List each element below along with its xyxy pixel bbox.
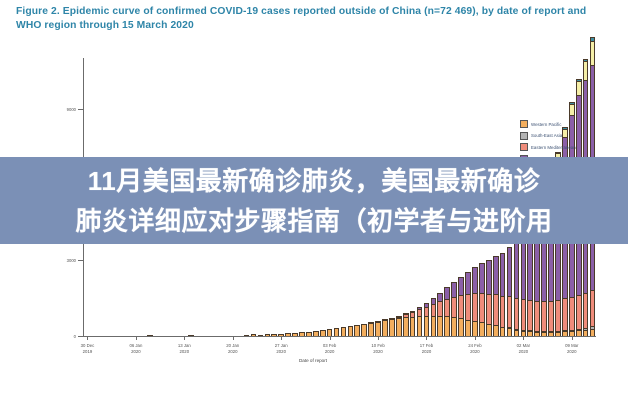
bar bbox=[417, 307, 423, 336]
bar bbox=[313, 331, 319, 336]
x-tick-label: 06 Jan 2020 bbox=[113, 343, 159, 354]
bar bbox=[147, 335, 153, 336]
bar-segment bbox=[437, 316, 443, 336]
bar-segment bbox=[507, 296, 513, 327]
bar bbox=[493, 256, 499, 336]
bar-segment bbox=[541, 332, 547, 336]
bar-segment bbox=[320, 330, 326, 336]
bar bbox=[521, 232, 527, 336]
x-tick-label: 10 Feb 2020 bbox=[355, 343, 401, 354]
bar bbox=[465, 272, 471, 336]
x-tick-label: 09 Mar 2020 bbox=[549, 343, 595, 354]
x-tick-label: 24 Feb 2020 bbox=[452, 343, 498, 354]
bar-segment bbox=[576, 330, 582, 336]
figure-caption: Figure 2. Epidemic curve of confirmed CO… bbox=[16, 5, 614, 33]
bar-segment bbox=[334, 328, 340, 336]
bar-segment bbox=[451, 282, 457, 297]
bar-segment bbox=[341, 327, 347, 336]
bar-segment bbox=[465, 320, 471, 336]
bar-segment bbox=[299, 332, 305, 336]
bar-segment bbox=[590, 41, 596, 65]
bar-segment bbox=[479, 263, 485, 293]
bar-segment bbox=[361, 324, 367, 336]
bar-segment bbox=[389, 319, 395, 336]
bar bbox=[354, 325, 360, 336]
bar-segment bbox=[493, 325, 499, 336]
bar-segment bbox=[368, 323, 374, 336]
bar bbox=[251, 334, 257, 336]
bar-segment bbox=[313, 331, 319, 336]
bar-segment bbox=[147, 335, 153, 336]
bar bbox=[271, 334, 277, 336]
bar bbox=[320, 330, 326, 336]
bar-segment bbox=[265, 334, 271, 336]
bar-segment bbox=[479, 322, 485, 336]
bar-segment bbox=[424, 307, 430, 316]
bar-segment bbox=[444, 299, 450, 317]
bar bbox=[472, 267, 478, 336]
bar bbox=[458, 277, 464, 336]
bar-segment bbox=[472, 321, 478, 336]
bar-segment bbox=[500, 327, 506, 336]
bar-segment bbox=[348, 326, 354, 336]
legend-label: Eastern Mediterranean bbox=[531, 145, 576, 150]
legend-item[interactable]: South-East Asia bbox=[520, 132, 600, 140]
bar bbox=[514, 241, 520, 336]
bar-segment bbox=[583, 293, 589, 328]
bar-segment bbox=[285, 333, 291, 336]
bar bbox=[486, 260, 492, 336]
bar-segment bbox=[583, 330, 589, 336]
legend-swatch bbox=[520, 132, 528, 140]
y-tick bbox=[78, 260, 83, 261]
bar bbox=[285, 333, 291, 336]
bar bbox=[431, 298, 437, 336]
x-axis-line bbox=[83, 336, 596, 337]
bar-segment bbox=[514, 298, 520, 329]
bar-segment bbox=[569, 331, 575, 336]
bar-segment bbox=[534, 332, 540, 336]
bar-segment bbox=[244, 335, 250, 336]
bar-segment bbox=[493, 294, 499, 325]
x-tick-label: 17 Feb 2020 bbox=[403, 343, 449, 354]
y-tick-label: 3000 bbox=[30, 258, 76, 263]
bar-segment bbox=[493, 256, 499, 294]
bar bbox=[292, 333, 298, 336]
bar-segment bbox=[548, 301, 554, 332]
bar-segment bbox=[258, 335, 264, 336]
bar-segment bbox=[590, 290, 596, 327]
bar-segment bbox=[486, 294, 492, 324]
bar bbox=[244, 335, 250, 336]
bar bbox=[479, 263, 485, 336]
bar-segment bbox=[507, 247, 513, 296]
overlay-line-2: 肺炎详细应对步骤指南（初学者与进阶用 bbox=[75, 201, 552, 241]
bar-segment bbox=[396, 318, 402, 336]
bar-segment bbox=[437, 293, 443, 301]
x-tick bbox=[475, 336, 476, 340]
bar-segment bbox=[458, 295, 464, 319]
bar bbox=[306, 332, 312, 336]
bar-segment bbox=[486, 324, 492, 336]
bar bbox=[341, 327, 347, 336]
figure-root: Figure 2. Epidemic curve of confirmed CO… bbox=[0, 0, 628, 400]
bar-segment bbox=[521, 299, 527, 330]
bar-segment bbox=[251, 334, 257, 336]
bar-segment bbox=[534, 301, 540, 331]
x-tick bbox=[426, 336, 427, 340]
x-tick bbox=[233, 336, 234, 340]
bar-segment bbox=[424, 316, 430, 336]
x-tick bbox=[572, 336, 573, 340]
legend-label: Western Pacific bbox=[531, 122, 561, 127]
legend-swatch bbox=[520, 120, 528, 128]
bar-segment bbox=[555, 332, 561, 336]
legend-swatch bbox=[520, 143, 528, 151]
bar-segment bbox=[444, 287, 450, 298]
bar-segment bbox=[451, 297, 457, 318]
bar bbox=[424, 303, 430, 336]
bar bbox=[451, 282, 457, 336]
x-tick-label: 13 Jan 2020 bbox=[161, 343, 207, 354]
bar-segment bbox=[465, 294, 471, 320]
bar bbox=[403, 313, 409, 336]
x-tick bbox=[87, 336, 88, 340]
bar-segment bbox=[410, 317, 416, 336]
overlay-line-1: 11月美国最新确诊肺炎，美国最新确诊 bbox=[88, 161, 541, 201]
x-tick-label: 30 Dec 2019 bbox=[64, 343, 110, 354]
bar-segment bbox=[548, 332, 554, 336]
x-axis-title: Date of report bbox=[30, 358, 596, 363]
bar-segment bbox=[527, 300, 533, 331]
bar-segment bbox=[562, 298, 568, 330]
bar-segment bbox=[562, 331, 568, 336]
legend-label: South-East Asia bbox=[531, 133, 562, 138]
bar-segment bbox=[451, 317, 457, 336]
bar-segment bbox=[271, 334, 277, 336]
bar-segment bbox=[465, 272, 471, 294]
y-tick bbox=[78, 109, 83, 110]
bar-segment bbox=[541, 301, 547, 331]
bar-segment bbox=[514, 241, 520, 298]
x-tick bbox=[523, 336, 524, 340]
bar-segment bbox=[576, 295, 582, 329]
bar-segment bbox=[382, 320, 388, 336]
bar-segment bbox=[472, 293, 478, 321]
bar bbox=[444, 287, 450, 336]
bar bbox=[348, 326, 354, 336]
bar-segment bbox=[479, 293, 485, 322]
bar bbox=[361, 324, 367, 336]
bar-segment bbox=[500, 253, 506, 296]
bar-segment bbox=[444, 316, 450, 336]
bar-segment bbox=[431, 316, 437, 336]
bar-segment bbox=[458, 318, 464, 336]
x-tick bbox=[281, 336, 282, 340]
bar-segment bbox=[354, 325, 360, 336]
x-tick-label: 20 Jan 2020 bbox=[210, 343, 256, 354]
bar bbox=[188, 335, 194, 336]
bar-segment bbox=[403, 317, 409, 336]
bar-segment bbox=[306, 332, 312, 336]
bar bbox=[327, 329, 333, 336]
bar bbox=[500, 253, 506, 336]
bar bbox=[299, 332, 305, 336]
bar-segment bbox=[417, 316, 423, 336]
bar-segment bbox=[555, 300, 561, 331]
bar bbox=[278, 334, 284, 336]
bar bbox=[368, 322, 374, 336]
y-tick-label: 0 bbox=[30, 334, 76, 339]
bar bbox=[258, 335, 264, 336]
bar bbox=[334, 328, 340, 336]
y-tick-label: 9000 bbox=[30, 107, 76, 112]
bar-segment bbox=[569, 104, 575, 115]
y-tick bbox=[78, 336, 83, 337]
bar-segment bbox=[472, 267, 478, 293]
bar-segment bbox=[437, 301, 443, 316]
bar bbox=[389, 318, 395, 336]
bar-segment bbox=[583, 61, 589, 80]
x-tick-label: 03 Feb 2020 bbox=[307, 343, 353, 354]
bar-segment bbox=[500, 296, 506, 327]
x-tick bbox=[378, 336, 379, 340]
bar bbox=[410, 311, 416, 336]
bar-segment bbox=[327, 329, 333, 336]
bar-segment bbox=[486, 260, 492, 294]
bar-segment bbox=[458, 277, 464, 295]
bar-segment bbox=[507, 328, 513, 336]
legend-item[interactable]: Eastern Mediterranean bbox=[520, 143, 600, 151]
bar-segment bbox=[375, 322, 381, 336]
x-tick-label: 02 Mar 2020 bbox=[500, 343, 546, 354]
bar bbox=[396, 316, 402, 336]
bar-segment bbox=[278, 334, 284, 336]
bar bbox=[382, 319, 388, 336]
bar-segment bbox=[569, 297, 575, 330]
x-tick-label: 27 Jan 2020 bbox=[258, 343, 304, 354]
bar-segment bbox=[188, 335, 194, 336]
x-tick bbox=[136, 336, 137, 340]
legend-item[interactable]: Western Pacific bbox=[520, 120, 600, 128]
x-tick bbox=[184, 336, 185, 340]
bar-segment bbox=[576, 81, 582, 96]
bar bbox=[437, 293, 443, 336]
bar-segment bbox=[431, 304, 437, 316]
bar-segment bbox=[292, 333, 298, 336]
bar bbox=[265, 334, 271, 336]
bar bbox=[507, 247, 513, 336]
bar-segment bbox=[514, 330, 520, 336]
x-tick bbox=[330, 336, 331, 340]
bar-segment bbox=[521, 331, 527, 336]
chinese-text-overlay: 11月美国最新确诊肺炎，美国最新确诊 肺炎详细应对步骤指南（初学者与进阶用 bbox=[0, 157, 628, 244]
bar-segment bbox=[527, 331, 533, 336]
bar bbox=[375, 321, 381, 336]
bar-segment bbox=[590, 329, 596, 336]
